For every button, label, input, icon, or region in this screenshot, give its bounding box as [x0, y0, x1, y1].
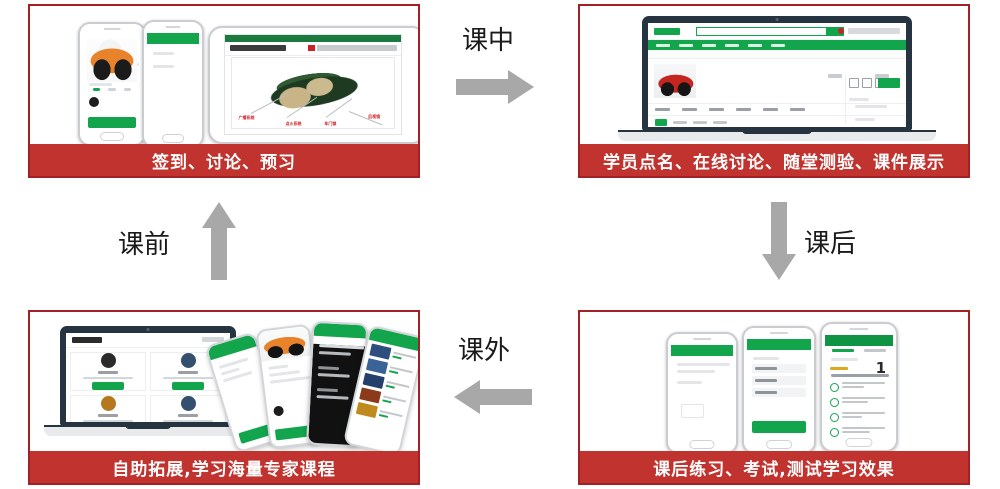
phone-device: [142, 20, 204, 144]
car-photo: [87, 38, 137, 82]
panel-pre-class[interactable]: 广播系统 点火系统 车门锁 后视镜 签到、讨论、预习: [28, 4, 420, 178]
question-number: 1: [876, 361, 886, 376]
laptop-screen: [648, 23, 906, 127]
submit-button[interactable]: [752, 421, 806, 433]
site-header: [66, 333, 230, 348]
laptop-base: [44, 425, 252, 436]
phone-screen: [147, 33, 199, 133]
arrow-label: 课中: [462, 20, 514, 57]
app-navbar: [225, 35, 401, 42]
panel-outside-class-body: [30, 312, 418, 451]
laptop-screen: [66, 333, 230, 422]
primary-action-button[interactable]: [88, 117, 136, 128]
arrow-outside-class: 课外: [440, 330, 570, 440]
caption-in-class: 学员点名、在线讨论、随堂测验、课件展示: [580, 144, 968, 176]
courseware-title: [230, 45, 286, 51]
org-name: [317, 45, 397, 51]
join-button[interactable]: [878, 78, 900, 88]
avatar: [273, 405, 284, 416]
quiz-option[interactable]: [830, 397, 888, 407]
course-thumbnail: [654, 64, 696, 98]
caption-pre-class: 签到、讨论、预习: [30, 144, 418, 176]
panel-pre-class-body: 广播系统 点火系统 车门锁 后视镜: [30, 6, 418, 144]
avatar: [181, 396, 196, 411]
quiz-option[interactable]: [830, 427, 888, 437]
expert-card[interactable]: [70, 352, 146, 391]
speaker-icon: [849, 328, 868, 330]
app-navbar: [671, 345, 733, 356]
flow-diagram: 广播系统 点火系统 车门锁 后视镜 签到、讨论、预习: [0, 0, 1000, 489]
arrow-label: 课外: [458, 330, 510, 367]
arrow-in-class: 课中: [452, 20, 570, 130]
arrow-label: 课前: [118, 224, 170, 261]
tab-strip: [89, 85, 135, 93]
phone-device: [78, 22, 146, 144]
arrow-down-icon: [762, 202, 796, 280]
caption-outside-class: 自助拓展,学习海量专家课程: [30, 451, 418, 483]
user-menu[interactable]: [848, 28, 900, 34]
avatar: [89, 97, 99, 107]
arrow-pre-class: 课前: [118, 198, 248, 296]
speaker-icon: [770, 332, 788, 334]
quiz-option[interactable]: [830, 412, 888, 422]
avatar: [101, 396, 116, 411]
answer-box[interactable]: [681, 404, 704, 418]
laptop-lid: [642, 16, 912, 131]
caption-after-class: 课后练习、考试,测试学习效果: [580, 451, 968, 483]
breadcrumb: [648, 50, 906, 59]
arrow-left-icon: [450, 380, 532, 414]
expert-card[interactable]: [70, 395, 146, 422]
site-header: [648, 23, 906, 40]
car-cutaway-diagram: 广播系统 点火系统 车门锁 后视镜: [231, 57, 395, 129]
expert-card[interactable]: [150, 395, 226, 422]
panel-after-class-body: 1: [580, 312, 968, 451]
enroll-button[interactable]: [92, 382, 123, 390]
search-input[interactable]: [696, 27, 844, 36]
car-illustration: [262, 60, 368, 119]
laptop-base: [618, 130, 937, 141]
home-button[interactable]: [100, 132, 124, 141]
phone-device: [666, 332, 738, 451]
side-panel: [845, 75, 903, 124]
phone-screen: [83, 35, 141, 131]
list-item[interactable]: [752, 388, 806, 397]
app-navbar: [314, 323, 367, 339]
site-navbar[interactable]: [648, 40, 906, 50]
arrow-label: 课后: [804, 223, 856, 260]
status-badge: [655, 119, 667, 126]
quiz-option[interactable]: [830, 382, 888, 392]
phone-device: 1: [820, 322, 898, 451]
laptop-device: [642, 16, 912, 141]
panel-in-class-body: [580, 6, 968, 144]
avatar: [101, 353, 116, 368]
app-navbar: [147, 33, 199, 44]
phone-screen: [671, 345, 733, 439]
laptop-lid: [60, 326, 236, 426]
tab-strip[interactable]: [825, 346, 893, 352]
home-button[interactable]: [766, 440, 792, 449]
laptop-device: [60, 326, 236, 436]
speaker-icon: [104, 28, 121, 30]
app-navbar: [825, 335, 893, 346]
arrow-up-icon: [202, 202, 236, 280]
enroll-button[interactable]: [172, 382, 203, 390]
course-info: [704, 64, 808, 98]
home-button[interactable]: [689, 440, 714, 449]
phone-screen: [747, 339, 811, 439]
courseware-header: [225, 42, 401, 56]
tablet-screen: 广播系统 点火系统 车门锁 后视镜: [224, 34, 402, 135]
home-button[interactable]: [162, 134, 184, 143]
panel-in-class[interactable]: 学员点名、在线讨论、随堂测验、课件展示: [578, 4, 970, 178]
list-item[interactable]: [752, 364, 806, 373]
avatar: [181, 353, 196, 368]
phone-screen: 1: [825, 335, 893, 437]
panel-outside-class[interactable]: 自助拓展,学习海量专家课程: [28, 310, 420, 485]
arrow-right-icon: [456, 70, 538, 104]
list-item[interactable]: [752, 376, 806, 385]
site-logo: [654, 28, 680, 35]
speaker-icon: [693, 338, 711, 340]
speaker-icon: [165, 26, 180, 28]
home-button[interactable]: [845, 438, 872, 447]
phone-device: [742, 326, 816, 451]
app-navbar: [747, 339, 811, 350]
tablet-device: 广播系统 点火系统 车门锁 后视镜: [208, 26, 418, 144]
org-logo-icon: [308, 45, 315, 51]
site-logo: [72, 337, 102, 343]
panel-after-class[interactable]: 1 课后练习、考试,测试学习效果: [578, 310, 970, 485]
question-tag: [830, 367, 848, 370]
car-photo: [258, 326, 311, 362]
expert-card-grid: [66, 348, 230, 422]
arrow-after-class: 课后: [752, 198, 892, 293]
